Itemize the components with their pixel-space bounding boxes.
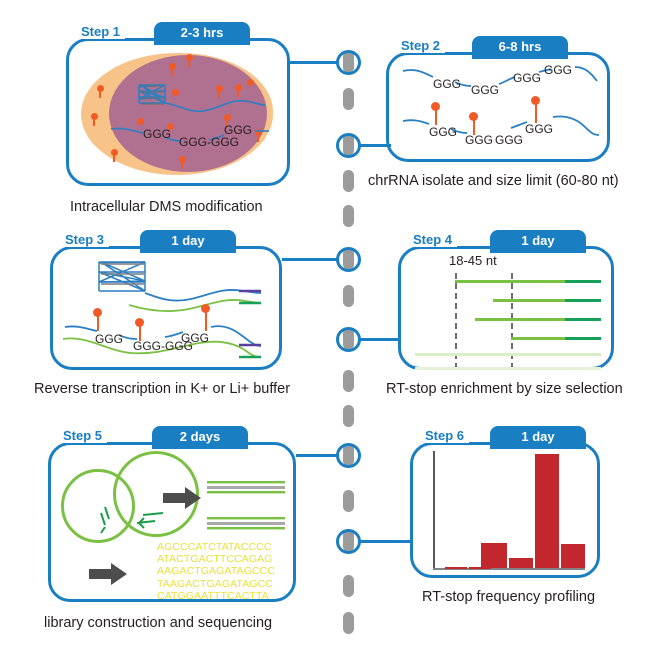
sequence-readout: AGCCCATCTATACCCC ATACTGACTTCCAGAG AAGACT…: [157, 541, 275, 602]
connector-step4: [359, 338, 401, 341]
chart-y-axis: [433, 451, 435, 569]
ggg-label: GGG-GGG: [179, 135, 239, 149]
chart-bar: [481, 543, 507, 568]
rna-structure-graphic: [69, 41, 293, 189]
dms-adduct: [531, 96, 540, 105]
ggg-label: GGG: [224, 123, 252, 137]
panel-step5[interactable]: AGCCCATCTATACCCC ATACTGACTTCCAGAG AAGACT…: [48, 442, 296, 602]
connector-step2: [359, 144, 391, 147]
sequence-line: CATGGAATTTCACTTA: [157, 590, 269, 602]
timeline-dash: [343, 370, 354, 392]
panel-step1[interactable]: GGG GGG-GGG GGG: [66, 38, 290, 186]
timeline-node-step4[interactable]: [336, 327, 361, 352]
timeline-dash: [343, 612, 354, 634]
timeline-dash: [343, 88, 354, 110]
adapter-segment: [565, 337, 601, 340]
caption-step4: RT-stop enrichment by size selection: [386, 381, 623, 397]
dms-adduct: [135, 318, 144, 327]
panel-step6[interactable]: [410, 442, 600, 578]
chart-bar: [561, 544, 585, 568]
cdna-band-faded: [415, 367, 601, 370]
caption-step6: RT-stop frequency profiling: [422, 589, 595, 605]
cdna-band: [511, 337, 565, 340]
dms-adduct: [139, 325, 141, 341]
ggg-label: GGG: [465, 133, 493, 147]
chart-bar: [535, 454, 559, 568]
ggg-label: GGG: [143, 127, 171, 141]
timeline-dash: [343, 170, 354, 192]
chart-bar: [509, 558, 533, 568]
ggg-label: GGG: [429, 125, 457, 139]
cdna-band: [455, 280, 565, 283]
dms-adduct: [201, 304, 210, 313]
caption-step5: library construction and sequencing: [44, 615, 272, 631]
sequence-line: TAAGACTGAGATAGCC: [157, 578, 273, 590]
duration-tab-1: 2-3 hrs: [154, 22, 250, 45]
connector-step1: [288, 61, 338, 64]
arrow-icon: [89, 563, 127, 585]
caption-step1: Intracellular DMS modification: [70, 199, 263, 215]
ggg-label: GGG: [544, 63, 572, 77]
dms-adduct: [473, 119, 475, 135]
panel-step2[interactable]: GGG GGG GGG GGG GGG GGG GGG GGG: [386, 52, 610, 162]
caption-step2: chrRNA isolate and size limit (60-80 nt): [368, 173, 619, 189]
rna-strand: [165, 101, 265, 112]
step-label-4: Step 4: [408, 232, 457, 247]
timeline-node-step2[interactable]: [336, 133, 361, 158]
cdna-band: [475, 318, 565, 321]
timeline-dash: [343, 575, 354, 597]
duration-tab-2: 6-8 hrs: [472, 36, 568, 59]
timeline-dash: [343, 490, 354, 512]
rna-strands-graphic: [389, 55, 613, 165]
timeline-node-step3[interactable]: [336, 247, 361, 272]
timeline-node-step1[interactable]: [336, 50, 361, 75]
timeline-dash: [343, 205, 354, 227]
adapter-segment: [565, 299, 601, 302]
dms-adduct: [535, 103, 537, 123]
arrow-icon: [163, 487, 201, 509]
ggg-label: GGG: [525, 122, 553, 136]
sequence-line: AGCCCATCTATACCCC: [157, 541, 272, 553]
step-label-1: Step 1: [76, 24, 125, 39]
step-label-5: Step 5: [58, 428, 107, 443]
dms-adduct: [205, 311, 207, 331]
dms-adduct: [469, 112, 478, 121]
connector-step3: [282, 258, 338, 261]
size-range-label: 18-45 nt: [449, 253, 497, 268]
dms-adduct: [435, 109, 437, 125]
cdna-band: [493, 299, 565, 302]
adapter-segment: [565, 280, 601, 283]
connector-step6: [359, 540, 411, 543]
duration-tab-4: 1 day: [490, 230, 586, 253]
panel-step4[interactable]: 18-45 nt: [398, 246, 614, 370]
dms-adduct: [97, 315, 99, 331]
rt-complex-graphic: [53, 249, 285, 373]
cdna-strand: [129, 300, 261, 311]
sequence-line: ATACTGACTTCCAGAG: [157, 553, 273, 565]
duration-tab-6: 1 day: [490, 426, 586, 449]
caption-step3: Reverse transcription in K+ or Li+ buffe…: [34, 381, 290, 397]
timeline-dash: [343, 405, 354, 427]
ggg-label: GGG: [495, 133, 523, 147]
sequence-line: AAGACTGAGATAGCCC: [157, 565, 275, 577]
dms-adduct: [431, 102, 440, 111]
ggg-label: GGG: [513, 71, 541, 85]
adapter-segment: [565, 318, 601, 321]
ggg-label: GGG: [433, 77, 461, 91]
ggg-label: GGG: [181, 331, 209, 345]
timeline-node-step6[interactable]: [336, 529, 361, 554]
timeline-dash: [343, 285, 354, 307]
chart-bar: [445, 567, 467, 569]
duration-tab-5: 2 days: [152, 426, 248, 449]
ggg-label: GGG: [471, 83, 499, 97]
panel-step3[interactable]: GGG GGG-GGG GGG: [50, 246, 282, 370]
ggg-label: GGG: [95, 332, 123, 346]
step-label-2: Step 2: [396, 38, 445, 53]
dms-adduct: [93, 308, 102, 317]
connector-step5: [296, 454, 338, 457]
cdna-band-faded: [415, 353, 601, 356]
timeline-node-step5[interactable]: [336, 443, 361, 468]
step-label-3: Step 3: [60, 232, 109, 247]
duration-tab-3: 1 day: [140, 230, 236, 253]
step-label-6: Step 6: [420, 428, 469, 443]
